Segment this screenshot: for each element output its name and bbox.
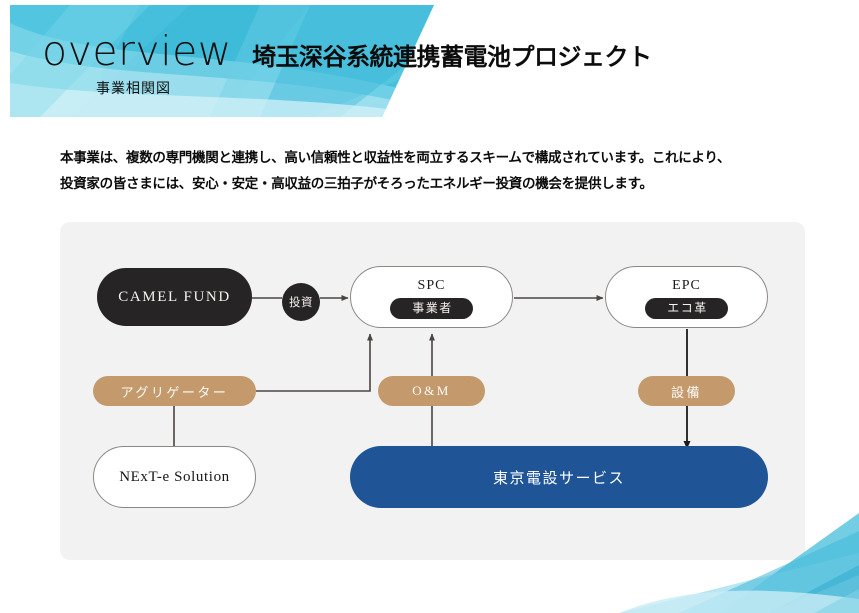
node-epc[interactable]: EPC エコ革	[605, 266, 768, 328]
node-camel-fund[interactable]: CAMEL FUND	[97, 268, 252, 326]
node-tokyo-densetsu-service[interactable]: 東京電設サービス	[350, 446, 768, 508]
diagram-panel: CAMEL FUND 投資 SPC 事業者 EPC エコ革 アグリゲーター O&…	[60, 222, 805, 560]
node-spc-pill: 事業者	[390, 298, 473, 319]
node-epc-label: EPC	[672, 279, 701, 293]
header-subtitle: 事業相関図	[96, 78, 171, 98]
badge-investment[interactable]: 投資	[282, 283, 320, 321]
node-om-label: O&M	[412, 383, 451, 399]
header: overview 埼玉深谷系統連携蓄電池プロジェクト 事業相関図	[0, 0, 859, 120]
node-aggregator-label: アグリゲーター	[121, 382, 229, 401]
page-title: overview	[42, 31, 232, 72]
node-camel-fund-label: CAMEL FUND	[118, 289, 231, 306]
node-next-e-solution-label: NExT-e Solution	[119, 469, 230, 486]
node-equipment[interactable]: 設備	[638, 376, 735, 406]
corner-decoration	[619, 513, 859, 613]
badge-investment-label: 投資	[289, 294, 313, 310]
project-title: 埼玉深谷系統連携蓄電池プロジェクト	[252, 45, 652, 69]
node-epc-pill: エコ革	[645, 298, 728, 319]
lead-line-2: 投資家の皆さまには、安心・安定・高収益の三拍子がそろったエネルギー投資の機会を提…	[60, 171, 820, 197]
node-equipment-label: 設備	[671, 382, 702, 401]
node-tokyo-densetsu-service-label: 東京電設サービス	[493, 467, 625, 488]
node-next-e-solution[interactable]: NExT-e Solution	[93, 446, 256, 508]
slide-page: overview 埼玉深谷系統連携蓄電池プロジェクト 事業相関図 本事業は、複数…	[0, 0, 859, 613]
node-spc[interactable]: SPC 事業者	[350, 266, 513, 328]
lead-line-1: 本事業は、複数の専門機関と連携し、高い信頼性と収益性を両立するスキームで構成され…	[60, 145, 820, 171]
node-om[interactable]: O&M	[378, 376, 485, 406]
node-spc-label: SPC	[418, 279, 446, 293]
node-aggregator[interactable]: アグリゲーター	[93, 376, 256, 406]
lead-paragraph: 本事業は、複数の専門機関と連携し、高い信頼性と収益性を両立するスキームで構成され…	[60, 145, 820, 197]
